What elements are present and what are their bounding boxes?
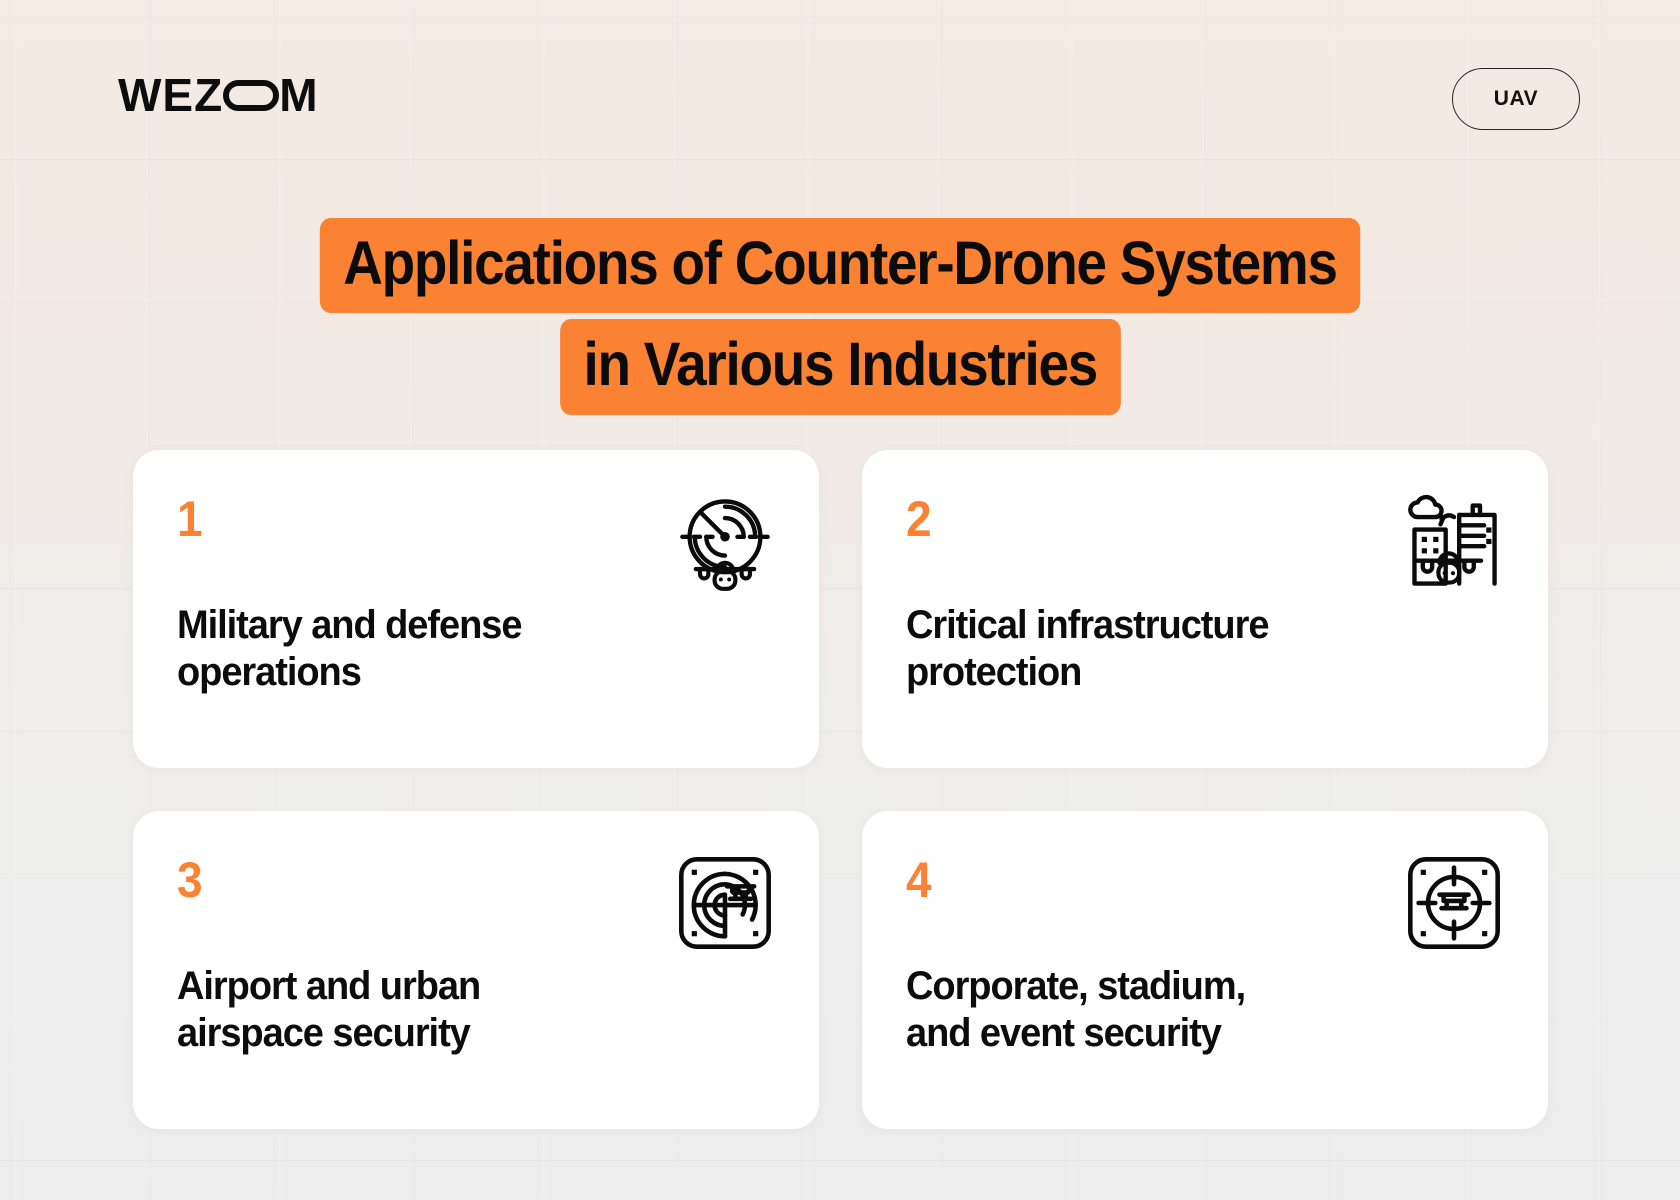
crosshair-target-drone-icon bbox=[1402, 851, 1506, 955]
logo-wordmark-we: WEZ bbox=[118, 72, 223, 118]
page-header: WEZ M UAV bbox=[0, 0, 1680, 170]
title-line-2: in Various Industries bbox=[560, 319, 1120, 414]
card-title: Airport and urban airspace security bbox=[177, 963, 745, 1057]
card-title: Critical infrastructure protection bbox=[906, 602, 1474, 696]
card-number: 3 bbox=[177, 855, 727, 905]
card-title: Military and defense operations bbox=[177, 602, 745, 696]
card-number: 4 bbox=[906, 855, 1456, 905]
wezom-logo-o-pill-icon bbox=[223, 72, 279, 118]
card-number: 2 bbox=[906, 494, 1456, 544]
card-military-defense[interactable]: 1 Military and defense operations bbox=[133, 450, 819, 768]
radar-sweep-drone-icon bbox=[673, 851, 777, 955]
card-airport-urban-airspace[interactable]: 3 Airport and urban airspace security bbox=[133, 811, 819, 1129]
radar-drone-icon bbox=[673, 490, 777, 594]
title-line-1: Applications of Counter-Drone Systems bbox=[320, 218, 1360, 313]
page-title: Applications of Counter-Drone Systems in… bbox=[0, 218, 1680, 415]
application-cards-grid: 1 Military and defense operations bbox=[133, 450, 1548, 1129]
wezom-logo[interactable]: WEZ M bbox=[118, 72, 319, 118]
card-critical-infrastructure[interactable]: 2 Critical infrastructure protection bbox=[862, 450, 1548, 768]
logo-wordmark-m: M bbox=[279, 72, 318, 118]
card-number: 1 bbox=[177, 494, 727, 544]
uav-badge-label: UAV bbox=[1494, 87, 1539, 111]
card-corporate-stadium-event[interactable]: 4 Corporate, stadium, and event security bbox=[862, 811, 1548, 1129]
city-skyline-drone-icon bbox=[1402, 490, 1506, 594]
card-title: Corporate, stadium, and event security bbox=[906, 963, 1474, 1057]
uav-badge[interactable]: UAV bbox=[1452, 68, 1580, 130]
